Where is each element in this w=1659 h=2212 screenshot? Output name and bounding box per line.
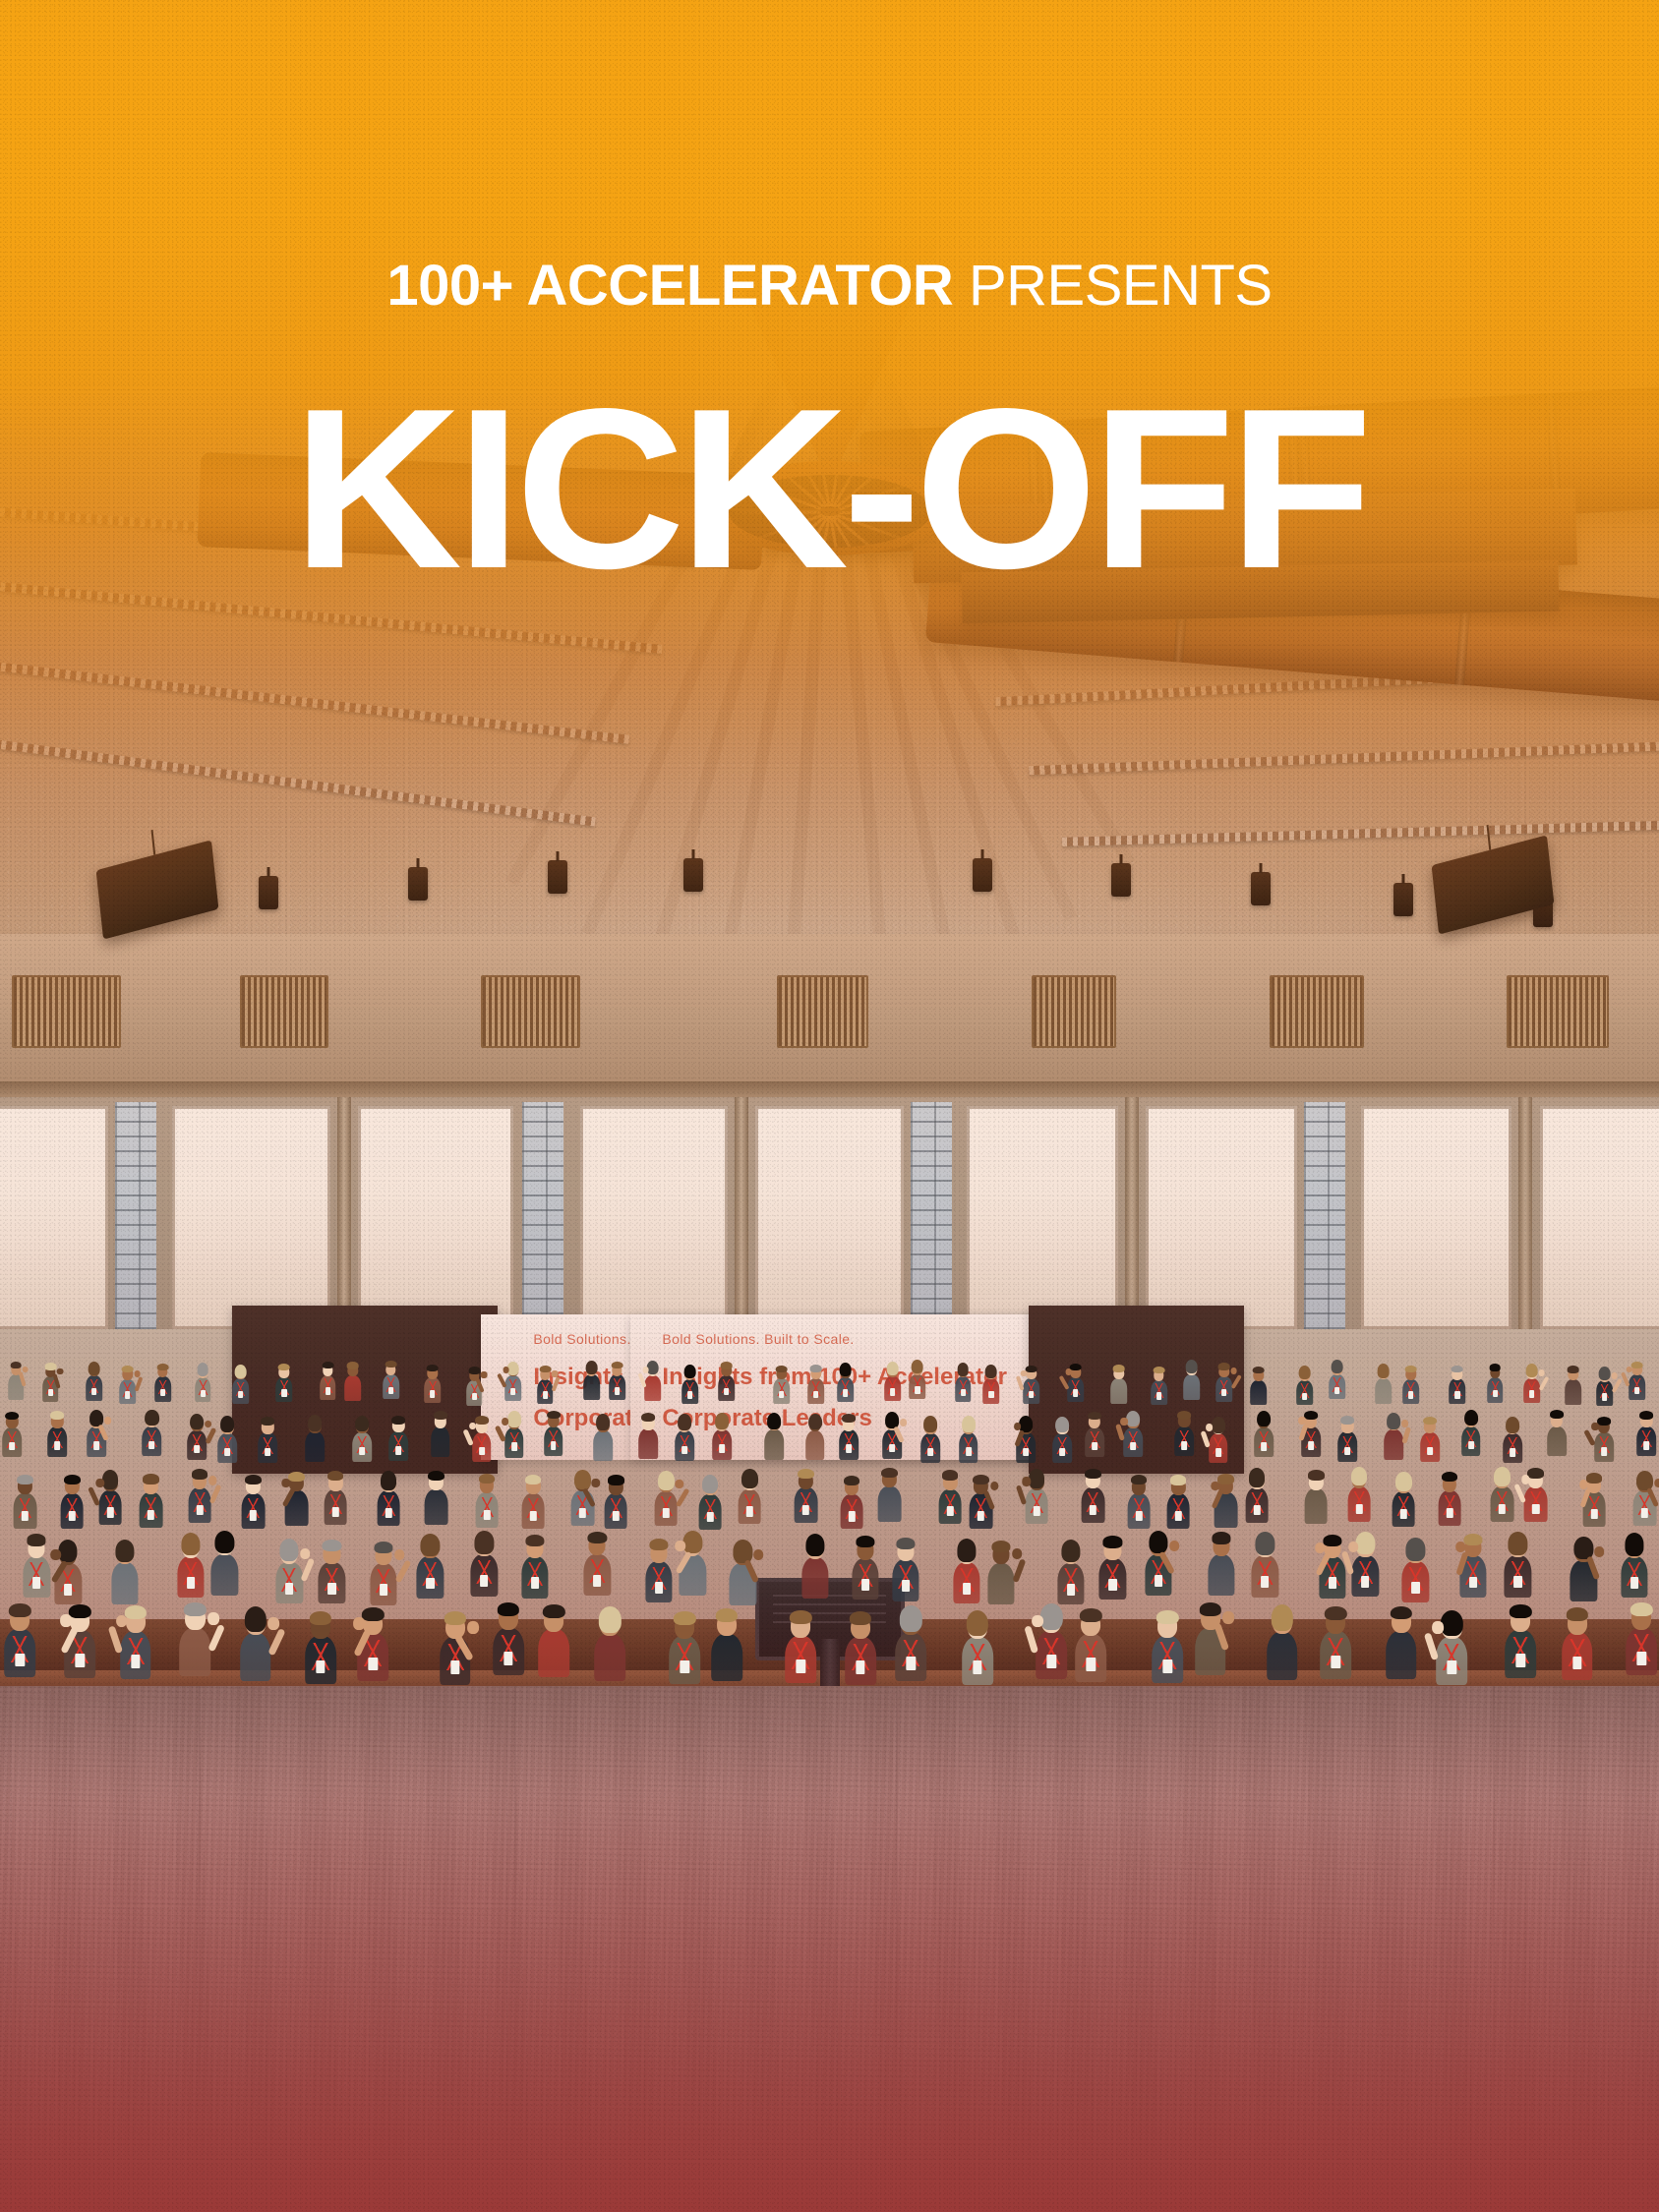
crowd-person — [1215, 1472, 1237, 1529]
name-badge — [327, 1583, 335, 1595]
name-badge — [483, 1510, 490, 1520]
name-badge — [1156, 1392, 1161, 1399]
person-hair — [1200, 1602, 1222, 1616]
window-pane — [0, 1106, 108, 1329]
name-badge — [160, 1389, 165, 1396]
venue-photograph: Bold Solutions. Built to Scale. Insights… — [0, 0, 1659, 2212]
crowd-person — [711, 1604, 742, 1681]
hand — [1455, 1542, 1465, 1552]
crowd-person — [1085, 1409, 1104, 1457]
name-badge — [1029, 1391, 1034, 1398]
fan-duct-cone — [720, 239, 940, 485]
window-wall — [0, 1097, 1659, 1329]
crowd-person — [895, 1603, 926, 1680]
name-badge — [131, 1655, 141, 1668]
crowd-person — [1208, 1529, 1235, 1596]
crowd-person — [655, 1470, 678, 1527]
crowd-person — [1025, 1468, 1047, 1525]
crowd-person — [276, 1362, 293, 1402]
person-hair — [844, 1476, 860, 1485]
name-badge — [1261, 1576, 1269, 1588]
crowd-person — [4, 1601, 35, 1677]
name-badge — [530, 1511, 537, 1521]
person-hair — [658, 1471, 675, 1490]
hand — [1315, 1543, 1325, 1553]
floor-contact-shadow — [0, 1686, 1659, 1797]
hvac-grille — [1270, 975, 1365, 1049]
crowd-person — [1057, 1538, 1085, 1604]
hand — [642, 1367, 648, 1373]
crowd-person — [1174, 1409, 1194, 1457]
crowd-person — [187, 1412, 207, 1460]
window-pane — [580, 1106, 728, 1329]
person-hair — [900, 1605, 922, 1632]
crowd-person — [1347, 1465, 1370, 1522]
crowd-person — [1023, 1364, 1039, 1404]
name-badge — [579, 1508, 586, 1518]
person-hair — [1442, 1472, 1458, 1482]
name-badge — [9, 1442, 15, 1451]
window-pane — [358, 1106, 512, 1329]
raised-arm — [208, 1484, 221, 1505]
name-badge — [1073, 1389, 1078, 1396]
name-badge — [1308, 1441, 1314, 1450]
name-badge — [504, 1652, 513, 1665]
brick-pillar — [911, 1102, 952, 1330]
name-badge — [531, 1577, 539, 1589]
crowd-person — [852, 1533, 879, 1600]
person-hair — [308, 1415, 322, 1431]
crowd-person — [47, 1409, 67, 1457]
name-badge — [687, 1391, 692, 1398]
name-badge — [332, 1507, 339, 1517]
name-badge — [1572, 1657, 1582, 1670]
person-hair — [143, 1474, 159, 1484]
name-badge — [848, 1511, 855, 1521]
name-badge — [1412, 1582, 1420, 1594]
name-badge — [472, 1393, 477, 1400]
crowd-person — [730, 1538, 757, 1604]
crowd-person — [23, 1531, 50, 1598]
person-hair — [721, 1362, 733, 1368]
crowd-person — [1636, 1409, 1656, 1457]
person-hair — [1308, 1470, 1325, 1480]
hand — [990, 1482, 999, 1490]
name-badge — [1446, 1508, 1452, 1518]
name-badge — [1254, 1505, 1261, 1515]
person-hair — [716, 1608, 739, 1622]
crowd-person — [1305, 1467, 1328, 1524]
window-mullion — [1518, 1097, 1532, 1329]
hand — [1230, 1368, 1236, 1374]
raised-arm — [1012, 1558, 1026, 1583]
crowd-person — [218, 1415, 238, 1463]
name-badge — [201, 1390, 206, 1397]
person-hair — [1332, 1360, 1343, 1373]
name-badge — [843, 1389, 848, 1396]
person-hair — [278, 1364, 290, 1370]
name-badge — [1023, 1448, 1029, 1457]
crowd-person — [1629, 1360, 1645, 1400]
person-hair — [1156, 1610, 1179, 1624]
name-badge — [846, 1444, 852, 1453]
raised-arm — [1612, 1378, 1623, 1393]
name-badge — [1215, 1448, 1221, 1457]
crowd-person — [1385, 1412, 1404, 1460]
person-hair — [69, 1604, 91, 1618]
hvac-grille — [1507, 975, 1609, 1049]
crowd-person — [1437, 1607, 1468, 1684]
name-badge — [1532, 1504, 1539, 1514]
crowd-person — [87, 1409, 106, 1457]
name-badge — [76, 1654, 86, 1667]
crowd-person — [970, 1472, 992, 1529]
person-hair — [1177, 1411, 1191, 1420]
person-hair — [475, 1531, 495, 1553]
name-badge — [1513, 1576, 1521, 1588]
name-badge — [543, 1391, 548, 1398]
hand — [1348, 1542, 1358, 1552]
crowd-person — [739, 1468, 761, 1525]
crowd-person — [1565, 1364, 1581, 1404]
person-hair — [702, 1475, 719, 1494]
person-hair — [1489, 1364, 1501, 1370]
crowd-person — [1487, 1362, 1504, 1402]
person-hair — [115, 1540, 135, 1562]
crowd-person — [352, 1414, 372, 1462]
person-torso — [180, 1628, 211, 1676]
person-torso — [764, 1429, 784, 1459]
person-hair — [574, 1470, 591, 1489]
person-hair — [1464, 1410, 1478, 1426]
person-hair — [585, 1361, 597, 1374]
person-torso — [805, 1430, 825, 1460]
crowd-person — [1076, 1604, 1107, 1681]
person-hair — [27, 1534, 46, 1545]
brick-pillar — [1304, 1102, 1345, 1330]
person-hair — [923, 1416, 937, 1432]
crowd-person — [1145, 1529, 1172, 1596]
person-hair — [850, 1611, 872, 1625]
crowd-person — [962, 1607, 993, 1684]
person-hair — [856, 1536, 875, 1547]
crowd-person — [1524, 1465, 1547, 1522]
person-hair — [967, 1610, 989, 1637]
hvac-grille — [240, 975, 327, 1049]
name-badge — [388, 1387, 393, 1394]
crowd-person — [1151, 1365, 1167, 1405]
window-mullion — [337, 1097, 351, 1329]
hand — [1223, 1611, 1235, 1624]
name-badge — [479, 1447, 485, 1456]
person-hair — [391, 1416, 405, 1425]
person-hair — [374, 1542, 393, 1553]
crowd-person — [774, 1363, 791, 1403]
name-badge — [250, 1510, 257, 1520]
person-hair — [1568, 1366, 1579, 1372]
name-badge — [916, 1386, 920, 1393]
person-hair — [1636, 1471, 1653, 1490]
name-badge — [655, 1582, 663, 1594]
person-hair — [1406, 1538, 1426, 1560]
person-hair — [1639, 1411, 1653, 1420]
person-torso — [1386, 1631, 1417, 1679]
name-badge — [1155, 1575, 1162, 1587]
crowd-person — [955, 1362, 972, 1402]
raised-arm — [552, 1376, 561, 1391]
person-torso — [639, 1428, 659, 1458]
crowd-person — [1183, 1359, 1200, 1399]
person-hair — [1217, 1474, 1234, 1484]
person-hair — [678, 1414, 691, 1430]
crowd-person — [698, 1473, 721, 1530]
person-hair — [279, 1539, 299, 1561]
person-hair — [1029, 1469, 1045, 1488]
person-hair — [245, 1475, 262, 1484]
crowd-person — [1152, 1606, 1183, 1683]
name-badge — [64, 1584, 72, 1596]
crowd-person — [1167, 1473, 1190, 1530]
crowd-person — [1123, 1409, 1143, 1457]
person-hair — [1323, 1535, 1342, 1546]
raised-arm — [135, 1376, 144, 1391]
hand — [104, 1417, 111, 1425]
person-hair — [327, 1471, 344, 1481]
person-hair — [525, 1475, 542, 1484]
person-torso — [344, 1375, 361, 1401]
raised-arm — [394, 1560, 411, 1584]
person-torso — [1267, 1632, 1298, 1680]
hand — [205, 1421, 211, 1428]
fan-hub — [819, 506, 841, 516]
person-torso — [1547, 1426, 1567, 1456]
crowd-person — [1301, 1409, 1321, 1457]
person-hair — [1149, 1531, 1168, 1553]
crowd-person — [884, 1361, 901, 1401]
crowd-person — [471, 1530, 499, 1597]
name-badge — [861, 1579, 869, 1591]
hand — [57, 1368, 63, 1375]
crowd-person — [718, 1360, 735, 1400]
raised-arm — [1513, 1484, 1526, 1504]
person-hair — [767, 1413, 781, 1429]
crowd-person — [1329, 1359, 1345, 1399]
person-hair — [543, 1604, 565, 1618]
crowd-person — [910, 1359, 926, 1399]
name-badge — [107, 1507, 114, 1517]
crowd-person — [1082, 1466, 1104, 1523]
person-hair — [881, 1468, 898, 1478]
hand — [267, 1617, 279, 1630]
name-badge — [1221, 1389, 1226, 1396]
person-torso — [305, 1431, 325, 1461]
person-hair — [1113, 1365, 1125, 1371]
crowd-person — [143, 1408, 162, 1456]
name-badge — [1427, 1447, 1433, 1456]
person-hair — [468, 1367, 480, 1373]
name-badge — [780, 1391, 785, 1398]
crowd-person — [232, 1364, 249, 1404]
person-hair — [674, 1611, 696, 1625]
name-badge — [1400, 1509, 1407, 1519]
person-hair — [323, 1540, 342, 1551]
name-badge — [681, 1446, 687, 1455]
crowd-person — [98, 1469, 121, 1526]
name-badge — [48, 1389, 53, 1396]
name-badge — [1344, 1447, 1350, 1456]
person-hair — [991, 1541, 1011, 1552]
crowd-person — [669, 1607, 700, 1684]
person-hair — [1103, 1536, 1123, 1547]
crowd-person — [1438, 1469, 1460, 1526]
person-hair — [122, 1366, 134, 1372]
raised-arm — [1401, 1426, 1410, 1444]
crowd-person — [1319, 1532, 1346, 1599]
person-torso — [425, 1489, 447, 1525]
person-hair — [596, 1414, 610, 1430]
name-badge — [125, 1391, 130, 1398]
name-badge — [927, 1448, 933, 1457]
person-hair — [1395, 1472, 1412, 1491]
crowd-person — [609, 1360, 625, 1400]
crowd-person — [712, 1412, 732, 1460]
name-badge — [1067, 1584, 1075, 1596]
person-torso — [1385, 1429, 1404, 1459]
person-hair — [1040, 1603, 1063, 1630]
crowd-person — [1254, 1409, 1274, 1457]
name-badge — [1181, 1441, 1187, 1450]
person-hair — [1080, 1608, 1102, 1622]
person-hair — [310, 1611, 332, 1625]
person-hair — [798, 1469, 814, 1479]
crowd-person — [2, 1409, 22, 1457]
name-badge — [1630, 1577, 1638, 1589]
person-hair — [17, 1475, 33, 1484]
person-hair — [1026, 1366, 1037, 1372]
crowd-person — [838, 1362, 855, 1402]
person-hair — [1153, 1367, 1164, 1373]
person-hair — [649, 1539, 669, 1550]
crowd-person — [275, 1537, 303, 1603]
crowd-person — [1053, 1415, 1073, 1463]
hand — [23, 1367, 29, 1373]
hand — [1121, 1418, 1128, 1426]
crowd-person — [1582, 1471, 1605, 1528]
crowd-person — [377, 1470, 399, 1527]
name-badge — [681, 1660, 690, 1674]
hand — [503, 1367, 508, 1373]
crowd-person — [285, 1469, 308, 1526]
person-torso — [538, 1629, 569, 1677]
name-badge — [1361, 1576, 1369, 1588]
person-hair — [887, 1362, 899, 1375]
name-badge — [149, 1441, 155, 1450]
person-hair — [1423, 1417, 1437, 1426]
crowd-person — [1375, 1363, 1392, 1403]
person-hair — [842, 1414, 856, 1423]
person-hair — [734, 1540, 753, 1562]
raised-arm — [300, 1558, 315, 1583]
name-badge — [1334, 1387, 1339, 1394]
crowd-person — [1523, 1363, 1540, 1403]
crowd-person — [211, 1529, 239, 1596]
person-hair — [215, 1531, 235, 1553]
name-badge — [1092, 1442, 1097, 1451]
person-hair — [805, 1534, 825, 1556]
person-hair — [1186, 1360, 1198, 1373]
crowd-person — [605, 1472, 627, 1529]
person-hair — [507, 1362, 519, 1375]
hand — [1612, 1372, 1618, 1379]
crowd-person — [388, 1414, 408, 1462]
crowd-person — [764, 1412, 784, 1460]
name-badge — [1637, 1652, 1647, 1665]
name-badge — [224, 1448, 230, 1457]
crowd-person — [1209, 1416, 1228, 1464]
crowd-person — [882, 1411, 902, 1459]
hand — [1014, 1423, 1021, 1430]
crowd-person — [1491, 1465, 1513, 1522]
name-badge — [1469, 1577, 1477, 1589]
person-hair — [1055, 1417, 1069, 1433]
person-hair — [58, 1540, 78, 1562]
crowd-person — [1594, 1414, 1614, 1462]
person-hair — [192, 1469, 208, 1479]
name-badge — [54, 1441, 60, 1450]
crowd-person — [42, 1361, 59, 1401]
crowd-person — [521, 1472, 544, 1529]
person-hair — [10, 1362, 22, 1368]
crowd-person — [180, 1600, 211, 1676]
crowd-person — [242, 1472, 265, 1529]
person-hair — [1387, 1413, 1400, 1429]
person-hair — [985, 1365, 997, 1378]
name-badge — [385, 1508, 391, 1518]
person-hair — [715, 1413, 729, 1429]
raised-arm — [88, 1486, 100, 1507]
crowd-person — [111, 1538, 139, 1604]
person-hair — [599, 1606, 622, 1633]
person-hair — [235, 1365, 247, 1378]
raised-arm — [205, 1427, 216, 1444]
name-badge — [1634, 1387, 1639, 1394]
person-hair — [1494, 1467, 1511, 1486]
name-badge — [890, 1388, 895, 1395]
person-hair — [1299, 1366, 1311, 1379]
person-torso — [1250, 1380, 1267, 1406]
person-hair — [125, 1605, 148, 1619]
person-hair — [9, 1603, 31, 1617]
name-badge — [1408, 1391, 1413, 1398]
crowd-person — [675, 1413, 694, 1461]
upper-wall-band — [0, 934, 1659, 1093]
crowd-person — [594, 1604, 625, 1681]
person-hair — [647, 1361, 659, 1374]
name-badge — [889, 1444, 895, 1453]
hand — [1627, 1367, 1632, 1373]
name-badge — [1493, 1390, 1498, 1397]
crowd-person — [681, 1364, 698, 1404]
crowd-person — [1402, 1364, 1419, 1404]
person-hair — [539, 1366, 551, 1372]
person-hair — [682, 1531, 702, 1553]
person-hair — [1325, 1606, 1347, 1620]
name-badge — [1468, 1441, 1474, 1450]
name-badge — [282, 1389, 287, 1396]
crowd-person — [840, 1473, 862, 1530]
window-pane — [172, 1106, 330, 1329]
crowd-person — [472, 1414, 492, 1462]
